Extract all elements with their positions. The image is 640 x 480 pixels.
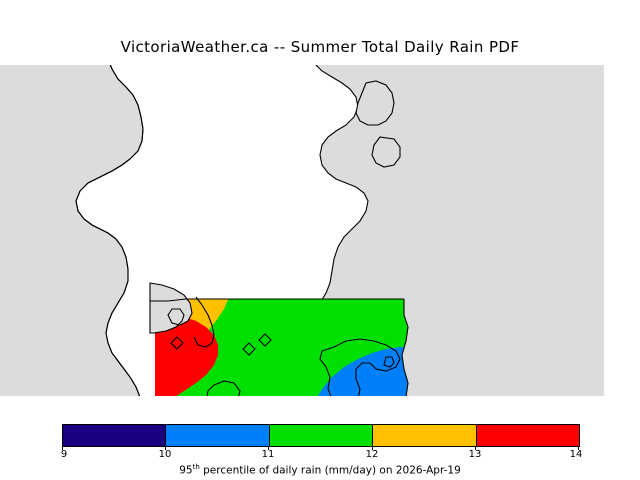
panel-bottom-margin [0, 396, 604, 413]
colorbar-tick-label-3: 12 [366, 449, 379, 460]
colorbar-caption: 95th percentile of daily rain (mm/day) o… [0, 463, 640, 477]
weather-map-page: VictoriaWeather.ca -- Summer Total Daily… [0, 0, 640, 480]
colorbar-band-12-13[interactable] [373, 425, 476, 446]
page-title: VictoriaWeather.ca -- Summer Total Daily… [0, 38, 640, 56]
colorbar-tick-label-5: 14 [570, 449, 583, 460]
caption-percentile-number: 95 [179, 465, 192, 477]
colorbar-band-13-14[interactable] [477, 425, 579, 446]
colorbar-band-11-12[interactable] [270, 425, 373, 446]
caption-rest: percentile of daily rain (mm/day) on 202… [200, 465, 461, 477]
colorbar-ticks: 9 10 11 12 13 14 [62, 446, 580, 460]
colorbar-tick-label-1: 10 [159, 449, 172, 460]
colorbar[interactable] [62, 424, 580, 447]
colorbar-tick-label-0: 9 [61, 449, 67, 460]
northeast-grey-nub [372, 137, 400, 167]
caption-percentile-suffix: th [193, 463, 200, 471]
colorbar-tick-label-2: 11 [262, 449, 275, 460]
map-svg [0, 65, 604, 413]
colorbar-tick-label-4: 13 [469, 449, 482, 460]
map-panel[interactable] [0, 65, 604, 413]
colorbar-area: 9 10 11 12 13 14 95th percentile of dail… [0, 418, 640, 480]
colorbar-band-10-11[interactable] [166, 425, 269, 446]
colorbar-band-9-10[interactable] [63, 425, 166, 446]
